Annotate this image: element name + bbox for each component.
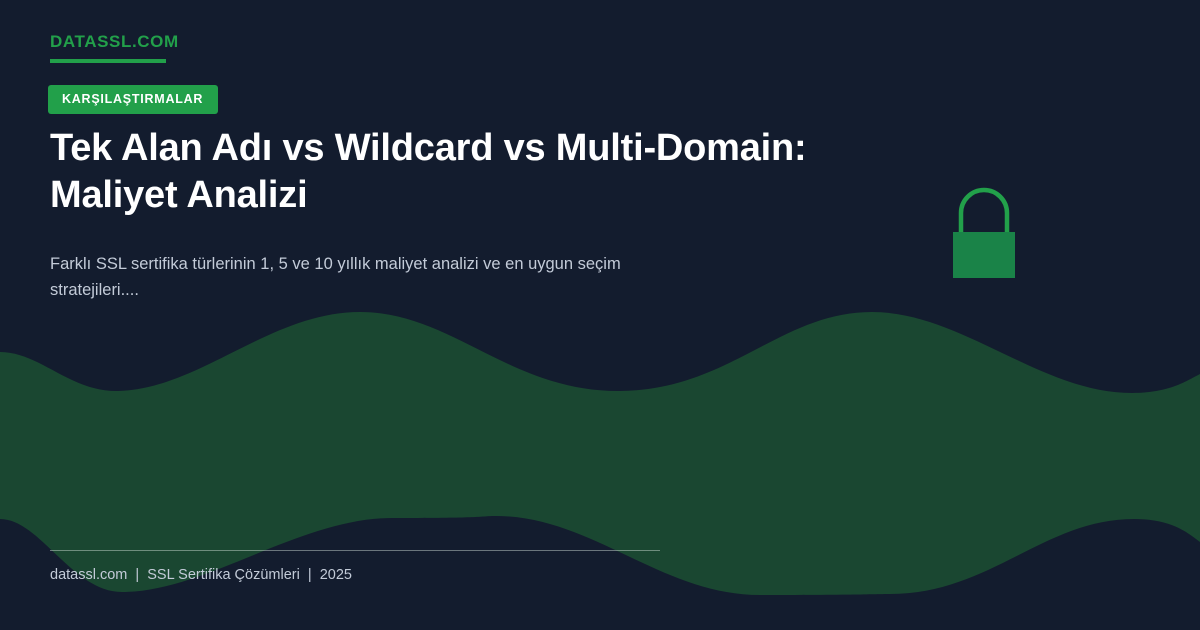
footer-meta: datassl.com | SSL Sertifika Çözümleri | … [50,566,352,584]
brand-lockup: DATASSL.COM [50,32,179,63]
card-content: DATASSL.COM KARŞILAŞTIRMALAR Tek Alan Ad… [0,0,1200,630]
og-card: DATASSL.COM KARŞILAŞTIRMALAR Tek Alan Ad… [0,0,1200,630]
page-title: Tek Alan Adı vs Wildcard vs Multi-Domain… [50,125,880,219]
brand-underline-rule [50,59,166,63]
page-description: Farklı SSL sertifika türlerinin 1, 5 ve … [50,251,710,303]
brand-name: DATASSL.COM [50,32,179,52]
category-badge: KARŞILAŞTIRMALAR [48,85,218,114]
footer-divider [50,550,660,551]
